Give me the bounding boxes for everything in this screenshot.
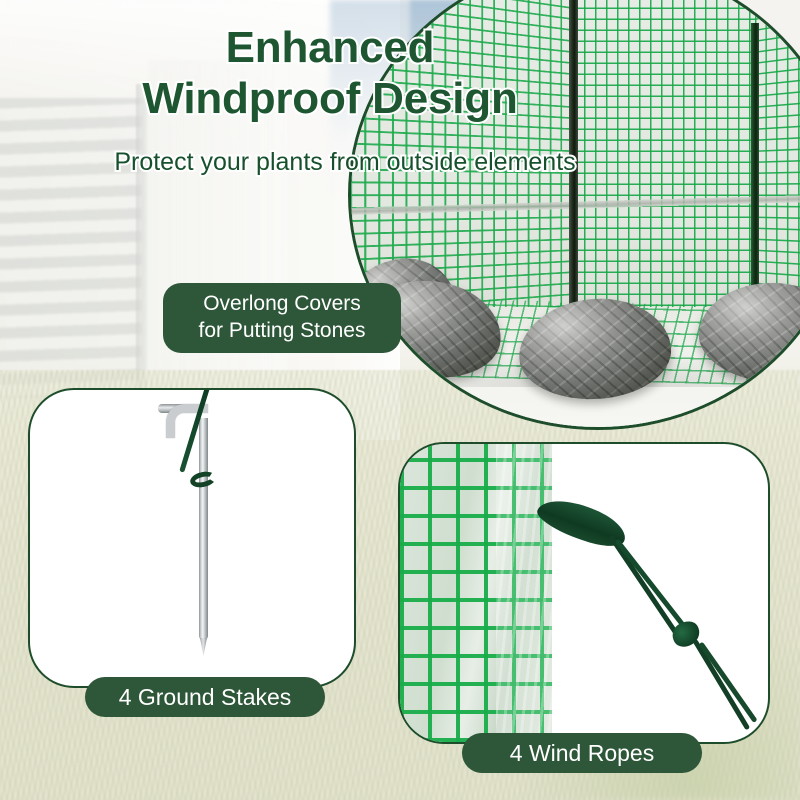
rope-tail (698, 642, 757, 724)
background-window-blinds (0, 98, 147, 398)
headline-line-2: Windproof Design (0, 73, 660, 124)
badge-overlong-covers: Overlong Covers for Putting Stones (163, 283, 401, 353)
stake-shaft (199, 418, 208, 640)
headline-line-1: Enhanced (226, 23, 435, 72)
badge-overlong-line-1: Overlong Covers (203, 292, 361, 315)
infographic-root: Enhanced Windproof Design Protect your p… (0, 0, 800, 800)
stake-cord-wrap (189, 469, 218, 489)
rope-cord (608, 535, 680, 639)
badge-ground-stakes: 4 Ground Stakes (85, 677, 325, 717)
panel-wind-ropes (398, 442, 770, 744)
rope-cord (615, 538, 692, 634)
badge-wind-ropes: 4 Wind Ropes (462, 733, 702, 773)
badge-overlong-line-2: for Putting Stones (199, 319, 366, 342)
stake-illustration (30, 390, 354, 686)
rope-panel-mesh (400, 444, 552, 742)
rope-tail (692, 639, 750, 731)
panel-ground-stakes (28, 388, 356, 688)
page-subtitle: Protect your plants from outside element… (0, 148, 690, 177)
page-title: Enhanced Windproof Design (0, 22, 660, 125)
